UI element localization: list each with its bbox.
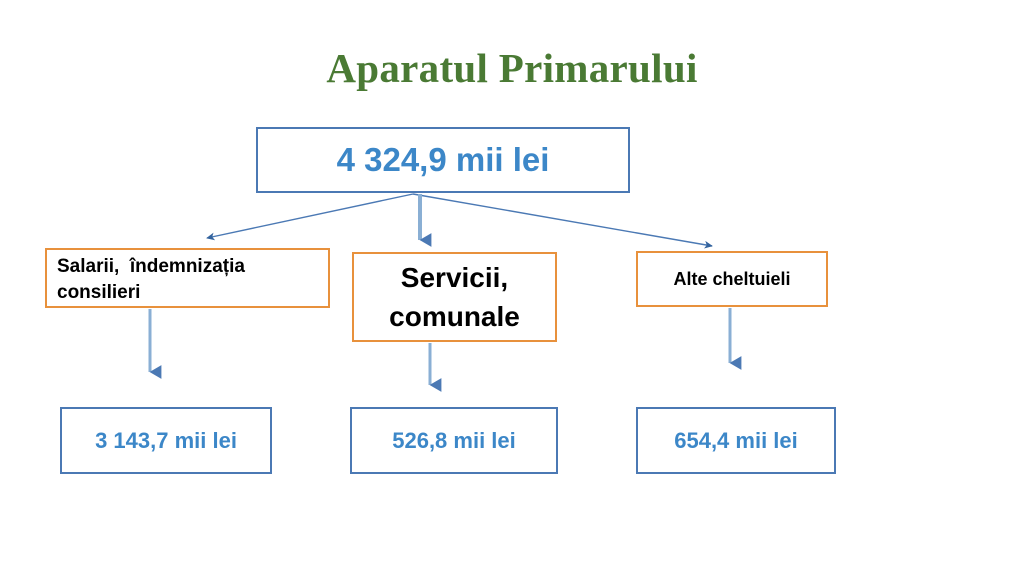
- category-box-alte-cheltuieli: Alte cheltuieli: [636, 251, 828, 307]
- page-title: Aparatul Primarului: [0, 44, 1024, 92]
- category-label-salarii: Salarii, îndemnizația consilieri: [57, 254, 320, 306]
- value-box-alte-cheltuieli: 654,4 mii lei: [636, 407, 836, 474]
- value-label-servicii: 526,8 mii lei: [392, 427, 516, 455]
- category-label-servicii: Servicii, comunale: [354, 258, 555, 336]
- total-amount-label: 4 324,9 mii lei: [337, 141, 550, 179]
- arrow-root-to-alte: [413, 194, 712, 246]
- value-box-salarii: 3 143,7 mii lei: [60, 407, 272, 474]
- category-label-alte-cheltuieli: Alte cheltuieli: [673, 267, 790, 291]
- slide-canvas: Aparatul Primarului 4 324,9 mii lei Sala…: [0, 0, 1024, 576]
- value-label-alte-cheltuieli: 654,4 mii lei: [674, 427, 798, 455]
- total-amount-box: 4 324,9 mii lei: [256, 127, 630, 193]
- value-box-servicii: 526,8 mii lei: [350, 407, 558, 474]
- arrow-root-to-salarii: [207, 194, 413, 238]
- category-box-servicii: Servicii, comunale: [352, 252, 557, 342]
- value-label-salarii: 3 143,7 mii lei: [95, 427, 237, 455]
- category-box-salarii: Salarii, îndemnizația consilieri: [45, 248, 330, 308]
